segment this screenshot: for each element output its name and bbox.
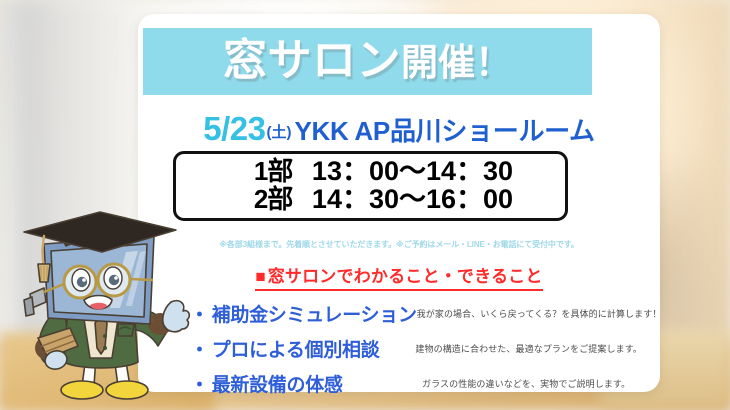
- schedule-part-label: 2部: [228, 186, 312, 213]
- benefit-title-text: 最新設備の体感: [212, 375, 343, 396]
- benefit-item: ・プロによる個別相談 建物の構造に合わせた、最適なプランをご提案します。: [190, 333, 642, 364]
- benefit-title: ・最新設備の体感: [190, 370, 422, 397]
- schedule-box: 1部 13：00〜14：30 2部 14：30〜16：00: [173, 151, 568, 221]
- fineprint-note: ※各部3組様まで。先着順とさせていただきます。※ご予約はメール・LINE・お電話…: [138, 239, 660, 250]
- headline-banner: 窓サロン開催！: [143, 28, 592, 95]
- schedule-part-label: 1部: [228, 158, 312, 185]
- headline-text: 窓サロン開催！: [223, 39, 512, 83]
- benefit-description: 建物の構造に合わせた、最適なプランをご提案します。: [415, 342, 642, 355]
- section-heading-text: 窓サロンでわかること・できること: [268, 267, 543, 286]
- event-day-of-week: (土): [266, 124, 291, 141]
- event-date-venue: 5/23(土)YKK AP品川ショールーム: [138, 112, 660, 145]
- schedule-row: 2部 14：30〜16：00: [176, 186, 565, 214]
- benefit-description: ガラスの性能の違いなどを、実物でご説明します。: [422, 377, 630, 390]
- poster-canvas: 窓サロン開催！ 5/23(土)YKK AP品川ショールーム 1部 13：00〜1…: [0, 0, 730, 410]
- square-bullet-icon: ■: [255, 267, 267, 286]
- benefit-item: ・補助金シミュレーション 我が家の場合、いくら戻ってくる？を具体的に計算します！: [190, 298, 642, 329]
- benefit-title-text: プロによる個別相談: [212, 340, 380, 361]
- content-card: 窓サロン開催！ 5/23(土)YKK AP品川ショールーム 1部 13：00〜1…: [138, 14, 660, 392]
- window-professor-mascot-icon: [8, 196, 194, 410]
- event-date: 5/23: [203, 110, 265, 147]
- benefit-title: ・プロによる個別相談: [190, 335, 415, 362]
- schedule-row: 1部 13：00〜14：30: [176, 158, 565, 186]
- benefit-description: 我が家の場合、いくら戻ってくる？を具体的に計算します！: [417, 307, 662, 320]
- section-heading-inner: ■窓サロンでわかること・できること: [255, 262, 542, 291]
- headline-main: 窓サロン: [223, 36, 401, 85]
- headline-sub: 開催！: [401, 42, 512, 83]
- benefit-item: ・最新設備の体感 ガラスの性能の違いなどを、実物でご説明します。: [190, 368, 642, 399]
- schedule-time-value: 13：00〜14：30: [312, 158, 513, 186]
- benefit-title: ・補助金シミュレーション: [190, 300, 417, 327]
- schedule-time-value: 14：30〜16：00: [312, 186, 513, 214]
- section-heading: ■窓サロンでわかること・できること: [138, 262, 660, 291]
- event-venue: YKK AP品川ショールーム: [294, 116, 594, 146]
- benefit-title-text: 補助金シミュレーション: [212, 305, 417, 326]
- benefit-list: ・補助金シミュレーション 我が家の場合、いくら戻ってくる？を具体的に計算します！…: [190, 298, 642, 403]
